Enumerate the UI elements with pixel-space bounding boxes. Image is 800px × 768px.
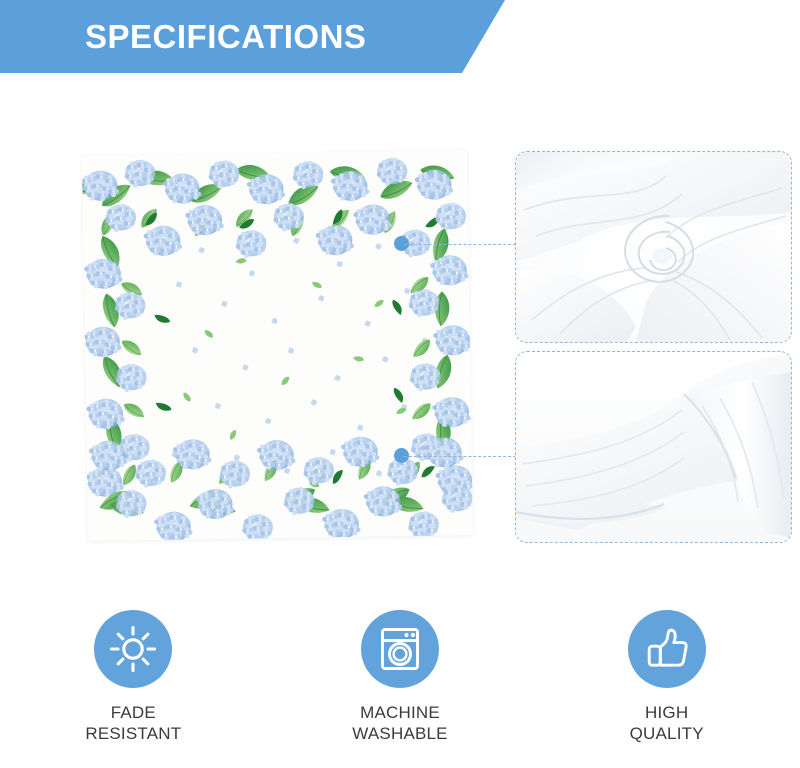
fabric-hem-artwork [516, 352, 791, 542]
detail-panel-fabric-weave [515, 151, 792, 343]
fabric-weave-artwork [516, 152, 791, 342]
feature-badge-fade-resistant [94, 610, 172, 688]
feature-label-machine-washable: MACHINE WASHABLE [352, 702, 447, 745]
scarf-pattern-artwork [82, 150, 473, 541]
detail-panel-fabric-hem [515, 351, 792, 543]
product-image-scarf [82, 150, 473, 541]
specifications-header-banner: SPECIFICATIONS [0, 0, 505, 73]
sun-icon [108, 624, 158, 674]
feature-fade-resistant: FADE RESISTANT [0, 610, 267, 768]
feature-label-line-2: RESISTANT [85, 723, 181, 744]
feature-label-high-quality: HIGH QUALITY [630, 702, 704, 745]
thumbs-up-icon [642, 624, 692, 674]
feature-high-quality: HIGH QUALITY [533, 610, 800, 768]
feature-label-line-2: QUALITY [630, 723, 704, 744]
feature-label-line-2: WASHABLE [352, 723, 447, 744]
feature-label-fade-resistant: FADE RESISTANT [85, 702, 181, 745]
page-title: SPECIFICATIONS [85, 0, 366, 73]
leader-line-hem [404, 456, 516, 457]
washing-machine-icon [375, 624, 425, 674]
leader-line-weave [404, 244, 516, 245]
product-showcase [0, 73, 800, 598]
feature-machine-washable: MACHINE WASHABLE [267, 610, 534, 768]
feature-highlights-row: FADE RESISTANT MACHINE WASHABLE [0, 610, 800, 768]
feature-label-line-1: FADE [85, 702, 181, 723]
feature-badge-machine-washable [361, 610, 439, 688]
feature-label-line-1: MACHINE [352, 702, 447, 723]
feature-badge-high-quality [628, 610, 706, 688]
feature-label-line-1: HIGH [630, 702, 704, 723]
